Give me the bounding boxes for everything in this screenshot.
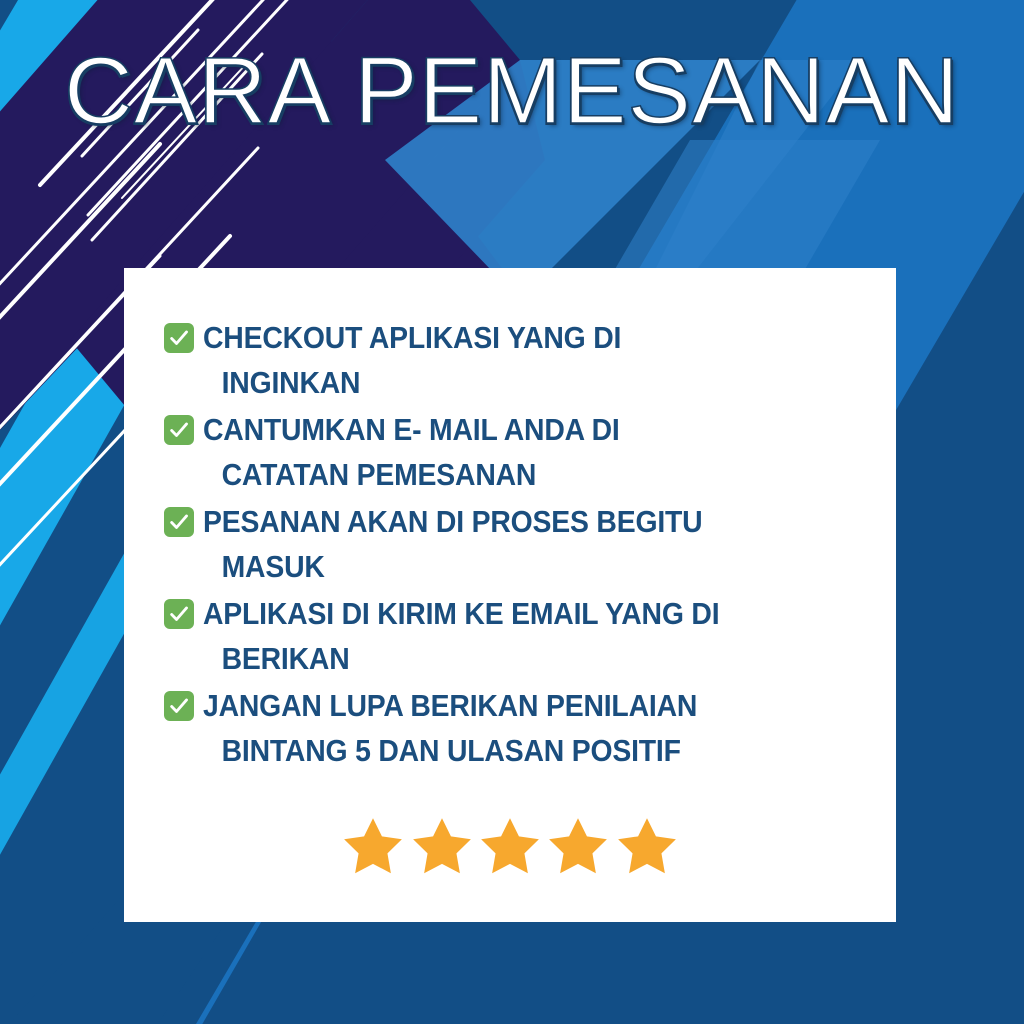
list-item-line2: MASUK (203, 545, 818, 590)
list-item-line2: BERIKAN (203, 637, 818, 682)
list-item: CHECKOUT APLIKASI YANG DIINGINKAN (164, 316, 864, 406)
list-item: APLIKASI DI KIRIM KE EMAIL YANG DIBERIKA… (164, 592, 864, 682)
check-box-icon (164, 691, 194, 721)
poster: CARA PEMESANAN CHECKOUT APLIKASI YANG DI… (0, 0, 1024, 1024)
star-icon (340, 813, 406, 879)
list-item-text: PESANAN AKAN DI PROSES BEGITUMASUK (203, 500, 818, 590)
check-box-icon (164, 323, 194, 353)
check-box-icon (164, 507, 194, 537)
check-box-icon (164, 415, 194, 445)
check-box-icon (164, 599, 194, 629)
content-card: CHECKOUT APLIKASI YANG DIINGINKAN CANTUM… (124, 268, 896, 922)
list-item-line1: PESANAN AKAN DI PROSES BEGITU (203, 505, 702, 539)
star-icon (477, 813, 543, 879)
list-item-text: APLIKASI DI KIRIM KE EMAIL YANG DIBERIKA… (203, 592, 818, 682)
list-item: JANGAN LUPA BERIKAN PENILAIANBINTANG 5 D… (164, 684, 864, 774)
list-item-line1: CANTUMKAN E- MAIL ANDA DI (203, 413, 620, 447)
list-item-line1: APLIKASI DI KIRIM KE EMAIL YANG DI (203, 597, 719, 631)
list-item-line1: JANGAN LUPA BERIKAN PENILAIAN (203, 689, 697, 723)
page-title: CARA PEMESANAN (58, 44, 966, 139)
list-item-text: JANGAN LUPA BERIKAN PENILAIANBINTANG 5 D… (203, 684, 818, 774)
star-rating (124, 813, 896, 879)
list-item-line2: CATATAN PEMESANAN (203, 453, 818, 498)
list-item: CANTUMKAN E- MAIL ANDA DICATATAN PEMESAN… (164, 408, 864, 498)
list-item-text: CANTUMKAN E- MAIL ANDA DICATATAN PEMESAN… (203, 408, 818, 498)
list-item-text: CHECKOUT APLIKASI YANG DIINGINKAN (203, 316, 818, 406)
list-item-line1: CHECKOUT APLIKASI YANG DI (203, 321, 621, 355)
star-icon (614, 813, 680, 879)
title-container: CARA PEMESANAN (0, 44, 1024, 139)
star-icon (409, 813, 475, 879)
star-icon (545, 813, 611, 879)
list-item-line2: BINTANG 5 DAN ULASAN POSITIF (203, 729, 818, 774)
checklist: CHECKOUT APLIKASI YANG DIINGINKAN CANTUM… (164, 316, 864, 776)
list-item: PESANAN AKAN DI PROSES BEGITUMASUK (164, 500, 864, 590)
list-item-line2: INGINKAN (203, 361, 818, 406)
